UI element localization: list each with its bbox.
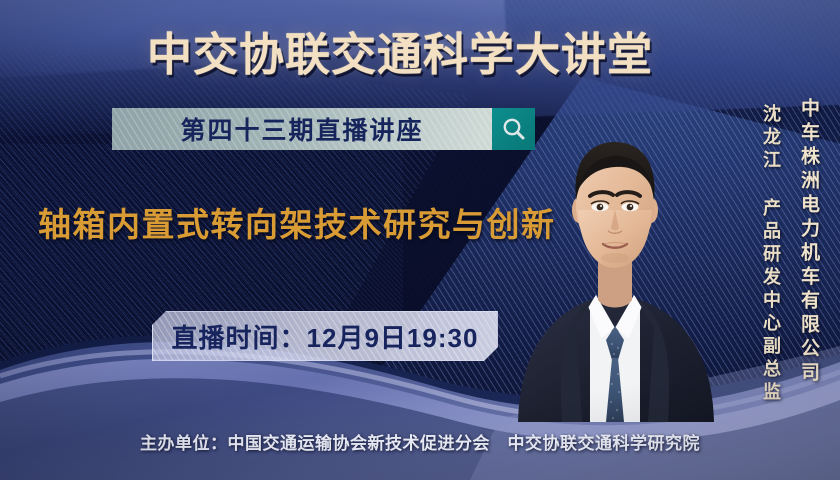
- episode-banner: 第四十三期直播讲座: [112, 108, 492, 150]
- live-lecture-poster: 中交协联交通科学大讲堂 第四十三期直播讲座 轴箱内置式转向架技术研究与创新 直播…: [0, 0, 840, 480]
- search-icon[interactable]: [492, 108, 535, 150]
- live-time-badge: 直播时间：12月9日19:30: [152, 311, 498, 361]
- episode-label: 第四十三期直播讲座: [180, 111, 423, 147]
- lecture-topic-title: 轴箱内置式转向架技术研究与创新: [38, 198, 556, 246]
- speaker-name-and-role: 沈龙江 产品研发中心副总监: [758, 104, 784, 405]
- speaker-company: 中车株洲电力机车有限公司: [795, 98, 822, 386]
- live-time-text: 直播时间：12月9日19:30: [172, 318, 479, 355]
- page-title: 中交协联交通科学大讲堂: [0, 18, 800, 83]
- organizer-footer: 主办单位：中国交通运输协会新技术促进分会 中交协联交通科学研究院: [0, 429, 840, 454]
